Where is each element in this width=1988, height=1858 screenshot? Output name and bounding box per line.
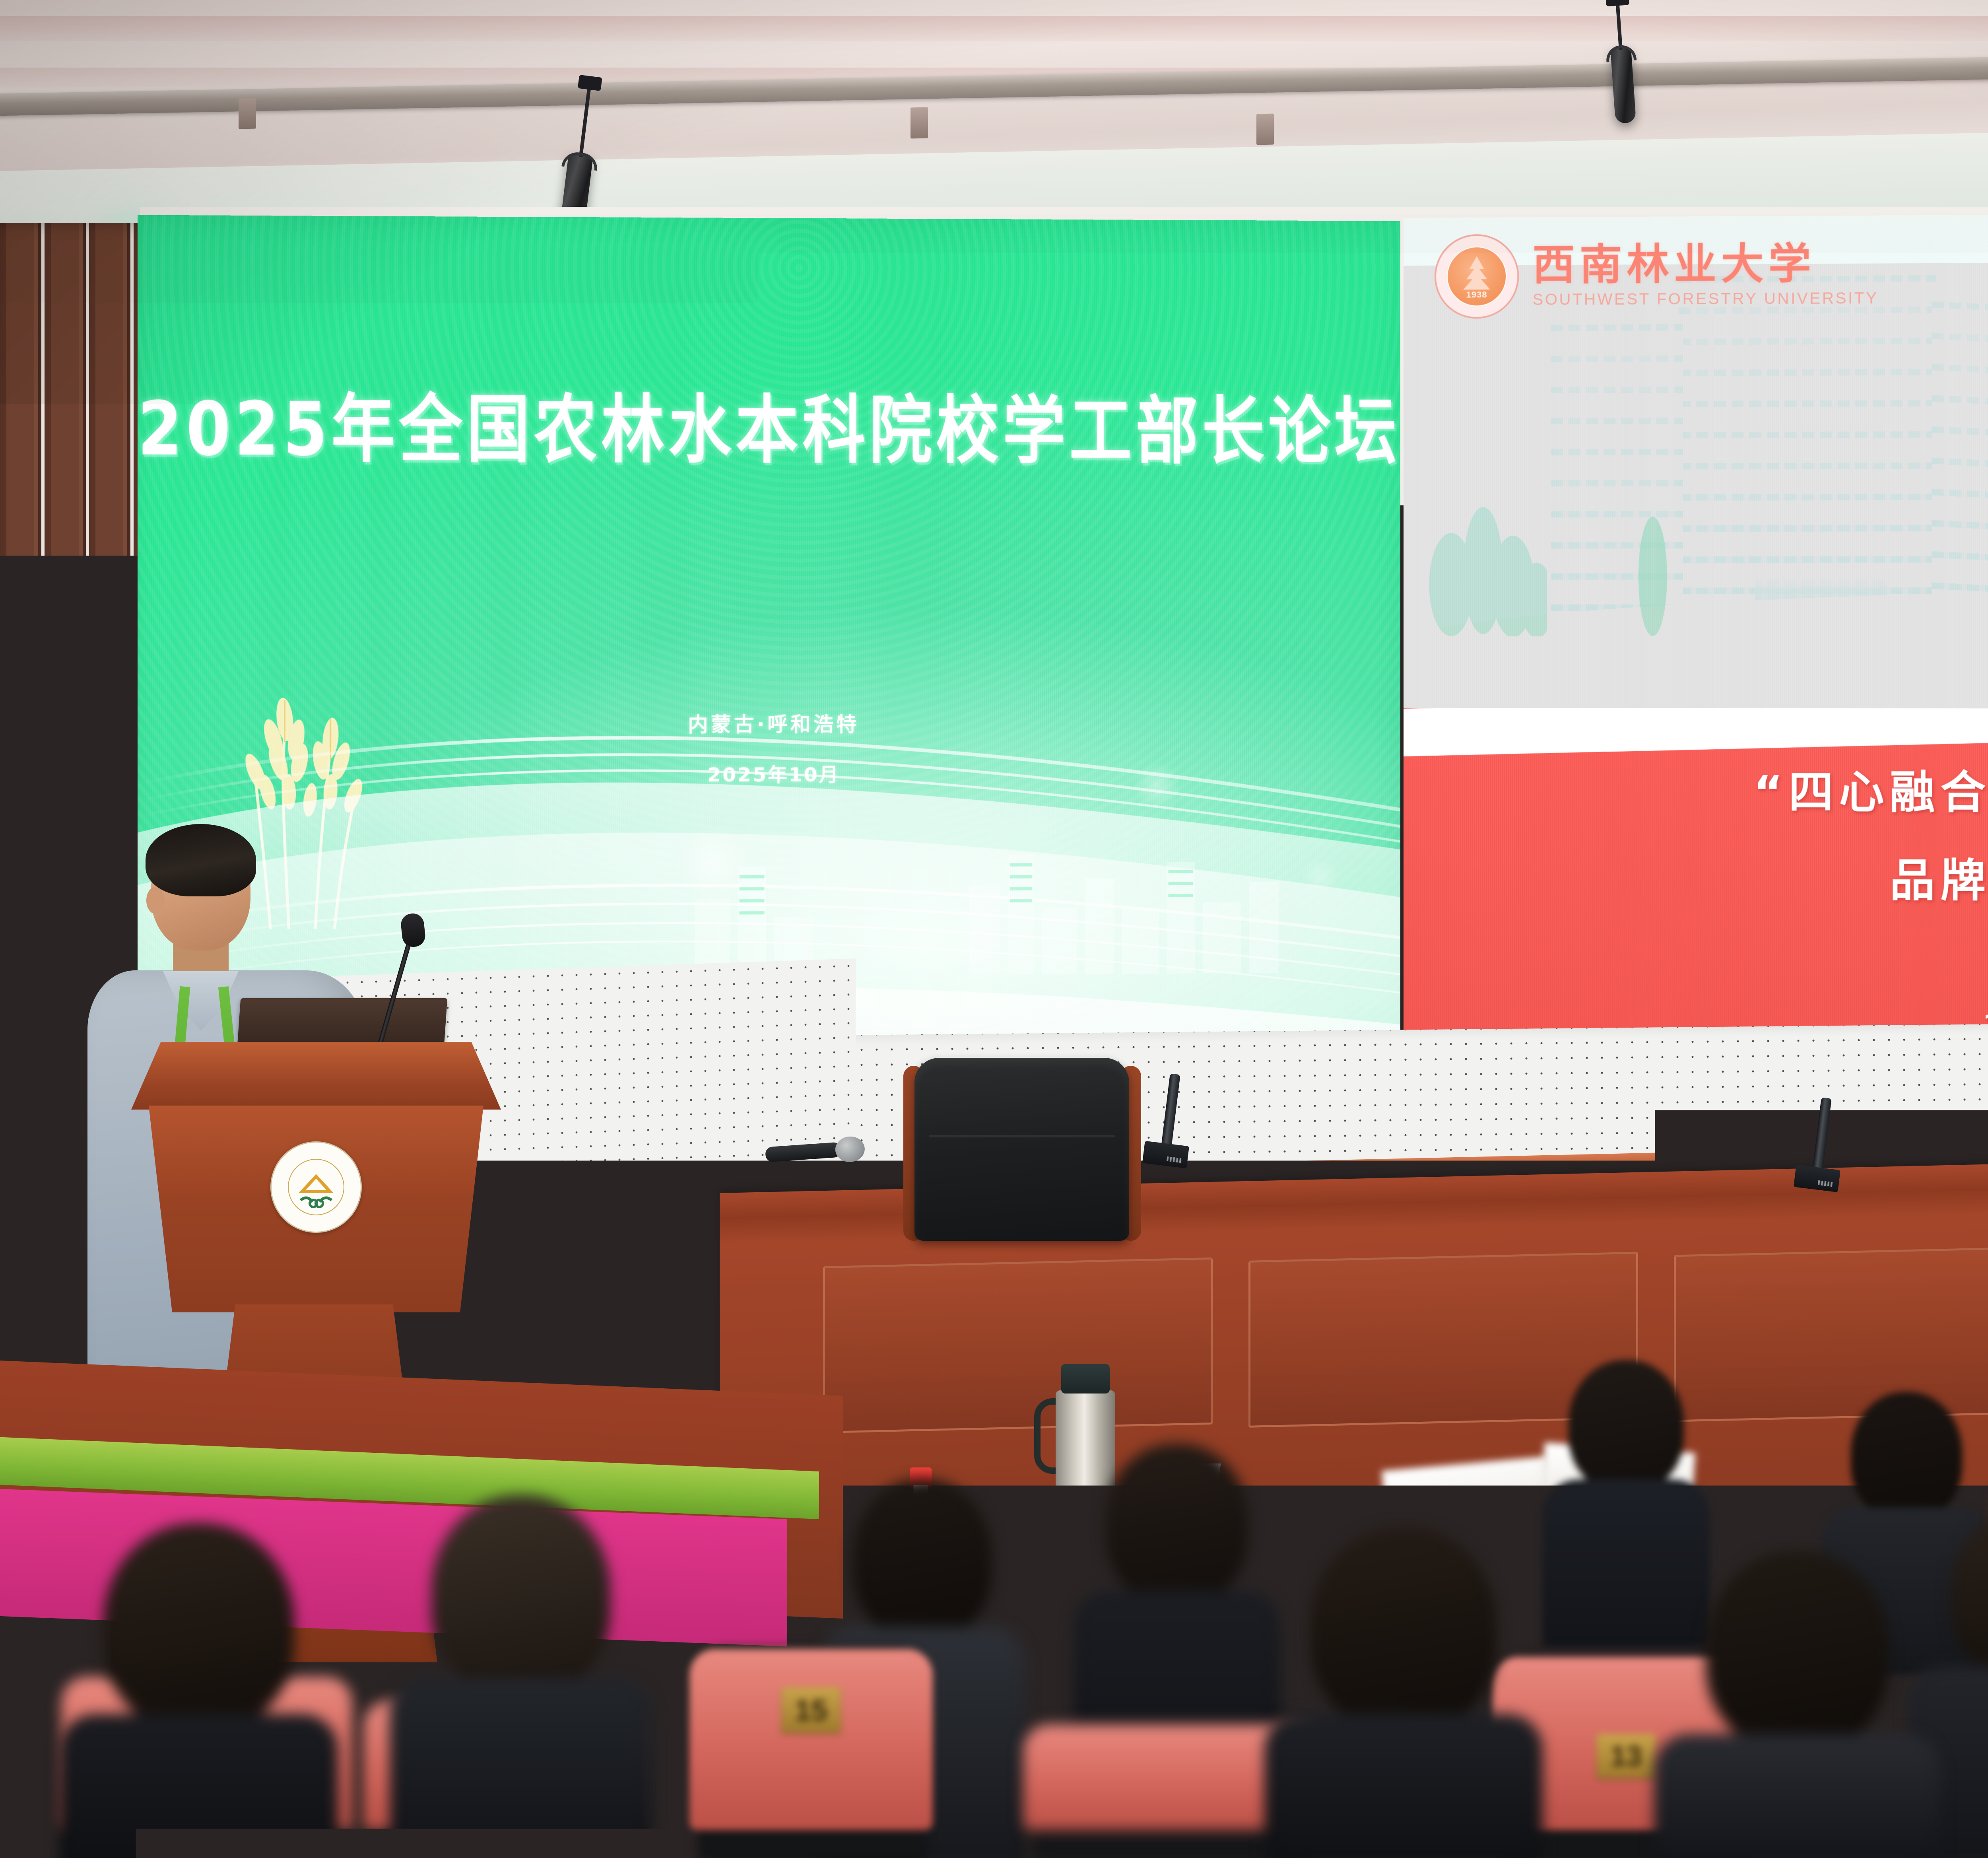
university-seal-icon: 1938: [1435, 234, 1519, 319]
university-name-cn: 西南林业大学: [1532, 242, 1878, 286]
audience-seat[interactable]: 15: [700, 1646, 922, 1858]
campus-building-photo: [1404, 259, 1988, 709]
seat-number-badge: 13: [1596, 1734, 1656, 1778]
emblem-glyph: [286, 1157, 346, 1217]
conifer-tree-icon: [1627, 505, 1679, 636]
audience-person: [1264, 1527, 1543, 1858]
speaker-hair: [146, 824, 256, 896]
slide-title-banner: “四心融合”心理健康教育工作 品牌的探索与实践 汇报人：徐高峰 2025年10月…: [1404, 708, 1988, 1060]
forum-date: 2025年10月: [138, 758, 1400, 788]
conference-hall-photograph: 2025年全国农林水本科院校学工部长论坛 内蒙古·呼和浩特 2025年10月: [0, 0, 1988, 1858]
slide-header-area: 1938 西南林业大学 SOUTHWEST FORESTRY UNIVERSIT…: [1404, 211, 1988, 709]
chair-backrest: [914, 1058, 1129, 1241]
forum-headline: 2025年全国农林水本科院校学工部长论坛: [138, 368, 1400, 478]
seal-year: 1938: [1448, 290, 1506, 300]
conifer-tree-icon: [1427, 481, 1547, 636]
led-screen-right-slide: 1938 西南林业大学 SOUTHWEST FORESTRY UNIVERSIT…: [1404, 211, 1988, 1061]
slide-title-line-1: “四心融合”心理健康教育工作: [1404, 756, 1988, 823]
city-skyline-icon: [646, 806, 1329, 976]
seat-number-badge: 15: [781, 1687, 841, 1733]
audience-person: [1654, 1551, 1940, 1858]
university-logo: 1938 西南林业大学 SOUTHWEST FORESTRY UNIVERSIT…: [1435, 232, 1879, 319]
podium-university-emblem: [270, 1141, 362, 1233]
executive-chair: [903, 1058, 1141, 1265]
audience-person: [60, 1523, 338, 1858]
stage-spotlight: [1610, 47, 1636, 124]
seal-tree-mark: 1938: [1448, 247, 1506, 306]
podium-top-surface: [131, 1042, 501, 1110]
slide-presenter: 汇报人：徐高峰: [1404, 946, 1988, 989]
audience-person: [390, 1495, 652, 1858]
light-yoke: [561, 151, 599, 171]
slide-title-line-2: 品牌的探索与实践: [1404, 843, 1988, 912]
university-name-en: SOUTHWEST FORESTRY UNIVERSITY: [1532, 289, 1878, 309]
speaker-ear: [146, 887, 165, 914]
forum-location: 内蒙古·呼和浩特: [138, 708, 1400, 738]
